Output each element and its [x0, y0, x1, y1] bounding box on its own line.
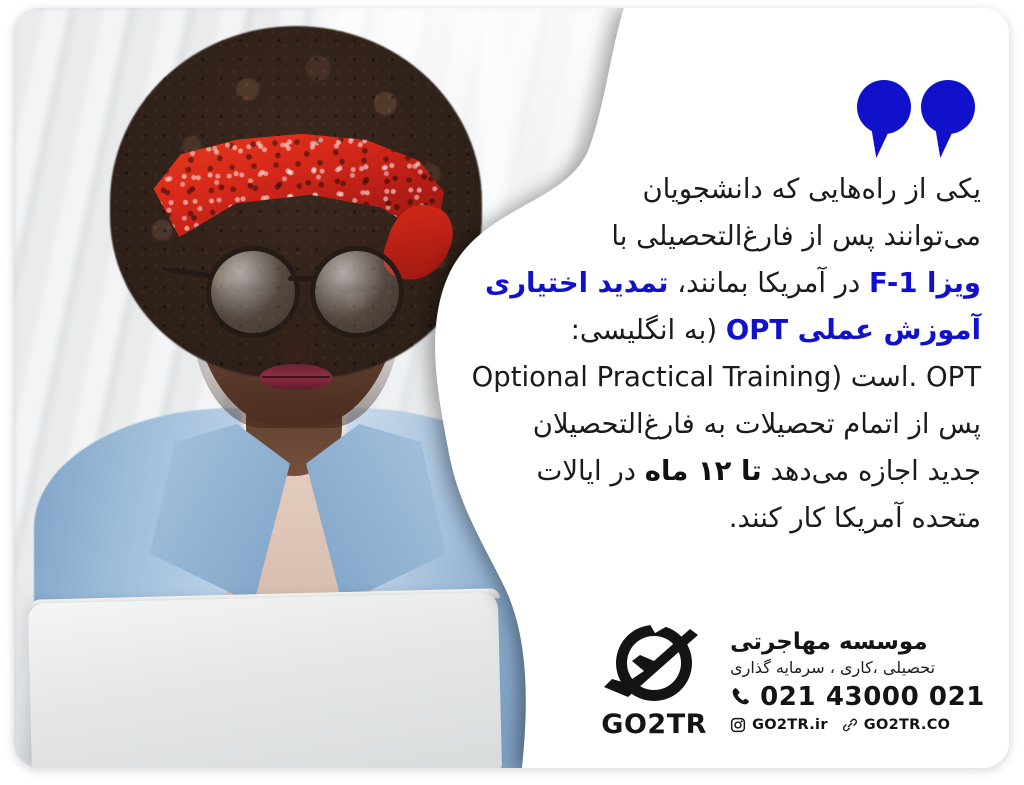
- quote-line-4: آموزش عملی OPT (به انگلیسی:: [451, 307, 981, 354]
- eyeglass-bridge: [288, 276, 314, 281]
- quote-tail-left: [869, 114, 897, 158]
- quote-text: متحده آمریکا کار کنند.: [729, 502, 981, 534]
- quote-text: در ایالات: [536, 455, 644, 487]
- links-row: GO2TR.ir GO2TR.CO: [730, 717, 950, 733]
- instagram-link[interactable]: GO2TR.ir: [730, 717, 828, 733]
- link-icon: [842, 717, 858, 733]
- quote-line-2: می‌توانند پس از فارغ‌التحصیلی با: [451, 213, 981, 260]
- quote-line-3: ویزا F-1 در آمریکا بمانند، تمدید اختیاری: [451, 260, 981, 307]
- poster-canvas: یکی از راه‌هایی که دانشجویان می‌توانند پ…: [0, 0, 1024, 785]
- quote-line-8: متحده آمریکا کار کنند.: [451, 495, 981, 542]
- quote-mark-icon: [855, 80, 975, 150]
- quote-tail-right: [933, 114, 961, 158]
- quote-line-1: یکی از راه‌هایی که دانشجویان: [451, 166, 981, 213]
- company-tagline: تحصیلی ،کاری ، سرمایه گذاری: [730, 658, 935, 678]
- quote-content: یکی از راه‌هایی که دانشجویان می‌توانند پ…: [449, 8, 1009, 768]
- quote-line-6: پس از اتمام تحصیلات به فارغ‌التحصیلان: [451, 401, 981, 448]
- quote-card: یکی از راه‌هایی که دانشجویان می‌توانند پ…: [14, 8, 1009, 768]
- quote-text: در آمریکا بمانند،: [669, 267, 869, 299]
- laptop-lid: [28, 592, 502, 768]
- go2tr-airplane-circle-logo: [602, 621, 706, 707]
- quote-highlight-visa: ویزا F-1: [869, 267, 981, 299]
- logo-wordmark: GO2TR: [601, 709, 707, 740]
- instagram-icon: [730, 717, 746, 733]
- nose: [272, 308, 318, 362]
- quote-highlight-tamdid: تمدید اختیاری: [485, 267, 669, 299]
- lip-line: [262, 376, 330, 378]
- quote-text-block: یکی از راه‌هایی که دانشجویان می‌توانند پ…: [451, 166, 981, 542]
- website-url: GO2TR.CO: [864, 717, 951, 733]
- quote-text: یکی از راه‌هایی که دانشجویان: [642, 173, 981, 205]
- footer-branding: GO2TR موسسه مهاجرتی تحصیلی ،کاری ، سرمای…: [594, 621, 985, 740]
- quote-text: می‌توانند پس از فارغ‌التحصیلی با: [611, 220, 981, 252]
- phone-row[interactable]: 021 43000 021: [730, 682, 985, 712]
- quote-text: پس از اتمام تحصیلات به فارغ‌التحصیلان: [533, 408, 981, 440]
- company-name: موسسه مهاجرتی: [730, 629, 928, 656]
- logo-block[interactable]: GO2TR: [594, 621, 714, 740]
- quote-text: جدید اجازه می‌دهد: [762, 455, 981, 487]
- quote-line-5: Optional Practical Training) است. OPT: [451, 354, 981, 401]
- phone-number: 021 43000 021: [760, 682, 985, 712]
- website-link[interactable]: GO2TR.CO: [842, 717, 951, 733]
- quote-text: (به انگلیسی:: [571, 314, 726, 346]
- quote-text-english: Optional Practical Training) است. OPT: [472, 361, 981, 393]
- instagram-handle: GO2TR.ir: [752, 717, 828, 733]
- quote-line-7: جدید اجازه می‌دهد تا ۱۲ ماه در ایالات: [451, 448, 981, 495]
- eyeglass-lens-right: [310, 246, 404, 338]
- quote-bold-duration: تا ۱۲ ماه: [645, 455, 762, 487]
- phone-icon: [730, 686, 751, 707]
- quote-highlight-opt: آموزش عملی OPT: [726, 314, 981, 346]
- contact-block: موسسه مهاجرتی تحصیلی ،کاری ، سرمایه گذار…: [730, 629, 985, 733]
